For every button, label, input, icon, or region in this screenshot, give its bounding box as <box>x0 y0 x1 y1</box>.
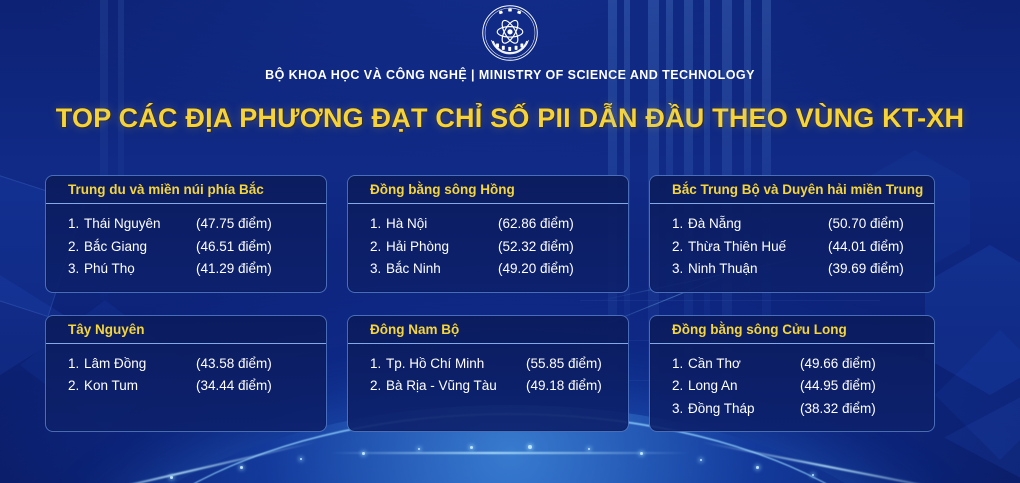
region-card-title: Đồng bằng sông Hồng <box>348 176 628 203</box>
globe-spark <box>588 448 590 450</box>
list-item: 1. Cần Thơ (49.66 điểm) <box>672 353 924 376</box>
rank-number: 1. <box>68 217 84 231</box>
rank-number: 2. <box>68 379 84 393</box>
locality-name: Phú Thọ <box>84 262 196 276</box>
globe-spark <box>362 452 365 455</box>
region-card-body: 1. Thái Nguyên (47.75 điểm) 2. Bắc Giang… <box>46 204 326 292</box>
region-card-title: Tây Nguyên <box>46 316 326 343</box>
region-card: Trung du và miền núi phía Bắc 1. Thái Ng… <box>45 175 327 293</box>
list-item: 2. Long An (44.95 điểm) <box>672 375 924 398</box>
rank-number: 2. <box>68 240 84 254</box>
locality-name: Hà Nội <box>386 217 498 231</box>
rank-number: 2. <box>672 240 688 254</box>
locality-name: Ninh Thuận <box>688 262 828 276</box>
locality-name: Cần Thơ <box>688 357 800 371</box>
locality-score: (47.75 điểm) <box>196 217 272 231</box>
list-item: 1. Tp. Hồ Chí Minh (55.85 điểm) <box>370 353 618 376</box>
list-item: 3. Ninh Thuận (39.69 điểm) <box>672 258 924 281</box>
infographic-canvas: BỘ KHOA HỌC VÀ CÔNG NGHỆ | MINISTRY OF S… <box>0 0 1020 483</box>
list-item: 2. Bắc Giang (46.51 điểm) <box>68 236 316 259</box>
list-item: 2. Thừa Thiên Huế (44.01 điểm) <box>672 236 924 259</box>
list-item: 3. Phú Thọ (41.29 điểm) <box>68 258 316 281</box>
region-card: Đồng bằng sông Cửu Long 1. Cần Thơ (49.6… <box>649 315 935 433</box>
globe-spark <box>300 458 302 460</box>
region-card-title: Trung du và miền núi phía Bắc <box>46 176 326 203</box>
locality-score: (38.32 điểm) <box>800 402 876 416</box>
region-card: Bắc Trung Bộ và Duyên hải miền Trung 1. … <box>649 175 935 293</box>
globe-spark <box>700 459 702 461</box>
region-card: Đông Nam Bộ 1. Tp. Hồ Chí Minh (55.85 đi… <box>347 315 629 433</box>
list-item: 2. Kon Tum (34.44 điểm) <box>68 375 316 398</box>
locality-score: (62.86 điểm) <box>498 217 574 231</box>
locality-score: (41.29 điểm) <box>196 262 272 276</box>
list-item: 2. Hải Phòng (52.32 điểm) <box>370 236 618 259</box>
list-item: 3. Bắc Ninh (49.20 điểm) <box>370 258 618 281</box>
rank-number: 2. <box>370 240 386 254</box>
list-item: 2. Bà Rịa - Vũng Tàu (49.18 điểm) <box>370 375 618 398</box>
locality-score: (52.32 điểm) <box>498 240 574 254</box>
rank-number: 1. <box>370 357 386 371</box>
region-card-title: Bắc Trung Bộ và Duyên hải miền Trung <box>650 176 934 203</box>
list-item: 3. Đồng Tháp (38.32 điểm) <box>672 398 924 421</box>
region-card-body: 1. Hà Nội (62.86 điểm) 2. Hải Phòng (52.… <box>348 204 628 292</box>
globe-spark <box>640 452 643 455</box>
ministry-logo-icon <box>481 4 539 62</box>
globe-spark <box>528 445 532 449</box>
rank-number: 3. <box>370 262 386 276</box>
locality-name: Tp. Hồ Chí Minh <box>386 357 526 371</box>
globe-spark <box>240 466 243 469</box>
globe-spark <box>170 476 173 479</box>
rank-number: 3. <box>672 402 688 416</box>
region-card-title: Đồng bằng sông Cửu Long <box>650 316 934 343</box>
region-card-body: 1. Tp. Hồ Chí Minh (55.85 điểm) 2. Bà Rị… <box>348 344 628 424</box>
region-card-grid: Trung du và miền núi phía Bắc 1. Thái Ng… <box>45 175 935 432</box>
locality-score: (50.70 điểm) <box>828 217 904 231</box>
list-item: 1. Lâm Đồng (43.58 điểm) <box>68 353 316 376</box>
ministry-name-line: BỘ KHOA HỌC VÀ CÔNG NGHỆ | MINISTRY OF S… <box>0 68 1020 82</box>
rank-number: 1. <box>68 357 84 371</box>
locality-score: (43.58 điểm) <box>196 357 272 371</box>
rank-number: 2. <box>370 379 386 393</box>
locality-score: (55.85 điểm) <box>526 357 602 371</box>
locality-score: (46.51 điểm) <box>196 240 272 254</box>
rank-number: 2. <box>672 379 688 393</box>
globe-spark <box>812 474 814 476</box>
locality-name: Hải Phòng <box>386 240 498 254</box>
locality-name: Thái Nguyên <box>84 217 196 231</box>
locality-score: (44.01 điểm) <box>828 240 904 254</box>
bg-hexagon-right <box>925 245 1020 395</box>
region-card-body: 1. Đà Nẵng (50.70 điểm) 2. Thừa Thiên Hu… <box>650 204 934 292</box>
rank-number: 1. <box>370 217 386 231</box>
globe-spark <box>470 446 473 449</box>
locality-score: (34.44 điểm) <box>196 379 272 393</box>
header: BỘ KHOA HỌC VÀ CÔNG NGHỆ | MINISTRY OF S… <box>0 0 1020 82</box>
locality-score: (49.18 điểm) <box>526 379 602 393</box>
list-item: 1. Thái Nguyên (47.75 điểm) <box>68 213 316 236</box>
region-card-title: Đông Nam Bộ <box>348 316 628 343</box>
locality-name: Thừa Thiên Huế <box>688 240 828 254</box>
globe-beam-left <box>63 441 317 483</box>
globe-beam-center <box>330 452 690 454</box>
rank-number: 3. <box>672 262 688 276</box>
locality-name: Long An <box>688 379 800 393</box>
rank-number: 1. <box>672 357 688 371</box>
list-item: 1. Đà Nẵng (50.70 điểm) <box>672 213 924 236</box>
locality-score: (39.69 điểm) <box>828 262 904 276</box>
globe-beam-right <box>702 441 977 483</box>
locality-score: (49.20 điểm) <box>498 262 574 276</box>
locality-score: (44.95 điểm) <box>800 379 876 393</box>
bg-triangle-right <box>944 390 1020 483</box>
locality-score: (49.66 điểm) <box>800 357 876 371</box>
region-card: Đồng bằng sông Hồng 1. Hà Nội (62.86 điể… <box>347 175 629 293</box>
region-card-body: 1. Lâm Đồng (43.58 điểm) 2. Kon Tum (34.… <box>46 344 326 424</box>
region-card: Tây Nguyên 1. Lâm Đồng (43.58 điểm) 2. K… <box>45 315 327 433</box>
list-item: 1. Hà Nội (62.86 điểm) <box>370 213 618 236</box>
bg-diamond-right <box>935 330 1020 460</box>
locality-name: Bà Rịa - Vũng Tàu <box>386 379 526 393</box>
locality-name: Lâm Đồng <box>84 357 196 371</box>
rank-number: 1. <box>672 217 688 231</box>
locality-name: Bắc Ninh <box>386 262 498 276</box>
rank-number: 3. <box>68 262 84 276</box>
locality-name: Đà Nẵng <box>688 217 828 231</box>
globe-spark <box>418 448 420 450</box>
locality-name: Đồng Tháp <box>688 402 800 416</box>
page-title: TOP CÁC ĐỊA PHƯƠNG ĐẠT CHỈ SỐ PII DẪN ĐẦ… <box>0 103 1020 134</box>
globe-spark <box>756 466 759 469</box>
locality-name: Kon Tum <box>84 379 196 393</box>
locality-name: Bắc Giang <box>84 240 196 254</box>
region-card-body: 1. Cần Thơ (49.66 điểm) 2. Long An (44.9… <box>650 344 934 432</box>
